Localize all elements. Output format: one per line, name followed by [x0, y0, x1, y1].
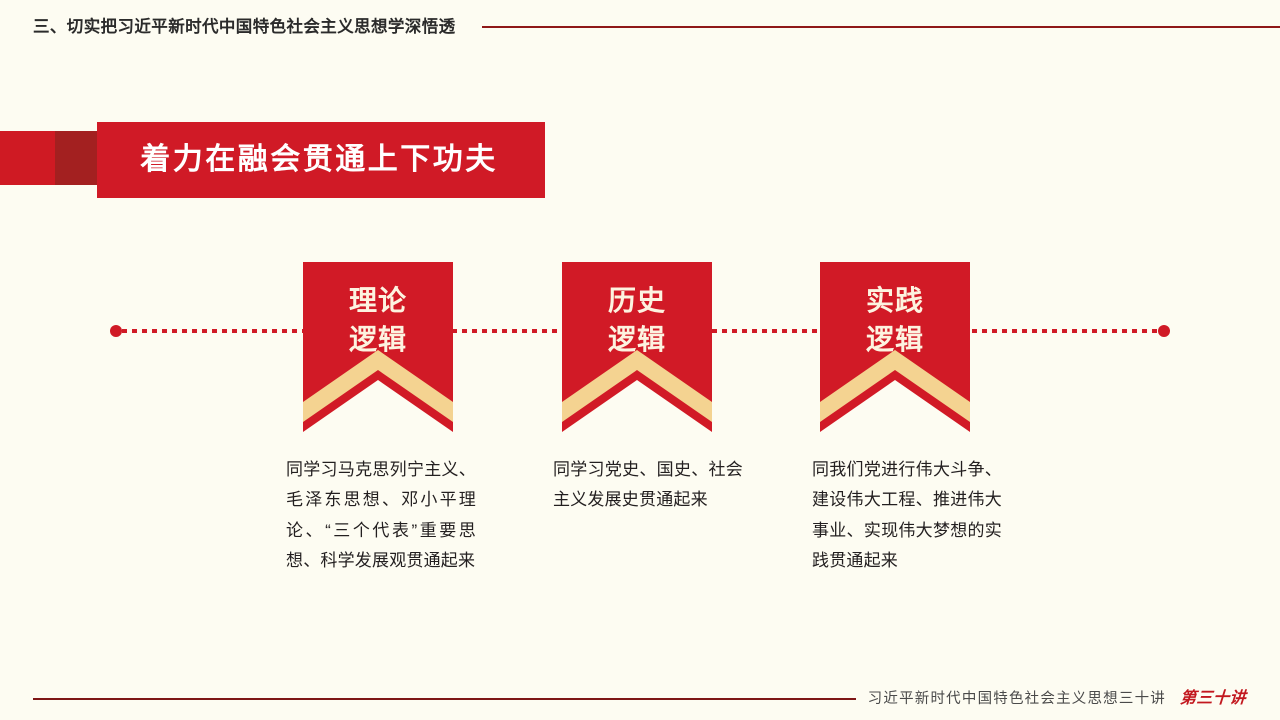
- ribbon-heading-text: 着力在融会贯通上下功夫: [140, 145, 502, 175]
- ribbon-fold-shape: [55, 131, 103, 185]
- slide-footer: 习近平新时代中国特色社会主义思想三十讲 第三十讲: [0, 682, 1280, 716]
- flag-badge-group: 理论 逻辑 历史 逻辑 实践 逻辑: [0, 262, 1280, 432]
- footer-divider-line: [33, 698, 856, 700]
- flag-badge-3[interactable]: 实践 逻辑: [820, 262, 970, 432]
- description-text-2: 同学习党史、国史、社会主义发展史贯通起来: [553, 455, 743, 516]
- flag-badge-2[interactable]: 历史 逻辑: [562, 262, 712, 432]
- flag-banner-shape-icon: [562, 262, 712, 432]
- section-ribbon-banner: 着力在融会贯通上下功夫: [0, 122, 545, 198]
- flag-banner-shape-icon: [820, 262, 970, 432]
- description-columns: 同学习马克思列宁主义、毛泽东思想、邓小平理论、“三个代表”重要思想、科学发展观贯…: [0, 455, 1280, 665]
- page-title: 三、切实把习近平新时代中国特色社会主义思想学深悟透: [33, 19, 456, 36]
- footer-book-title: 习近平新时代中国特色社会主义思想三十讲: [868, 692, 1166, 707]
- description-text-3: 同我们党进行伟大斗争、建设伟大工程、推进伟大事业、实现伟大梦想的实践贯通起来: [812, 455, 1002, 576]
- flag-badge-1[interactable]: 理论 逻辑: [303, 262, 453, 432]
- flag-banner-shape-icon: [303, 262, 453, 432]
- slide-header: 三、切实把习近平新时代中国特色社会主义思想学深悟透: [0, 10, 1280, 44]
- slide-canvas: 三、切实把习近平新时代中国特色社会主义思想学深悟透 着力在融会贯通上下功夫 理论…: [0, 0, 1280, 720]
- header-divider-line: [482, 26, 1280, 28]
- footer-lecture-number: 第三十讲: [1179, 691, 1246, 707]
- ribbon-body: 着力在融会贯通上下功夫: [97, 122, 545, 198]
- description-text-1: 同学习马克思列宁主义、毛泽东思想、邓小平理论、“三个代表”重要思想、科学发展观贯…: [286, 455, 476, 576]
